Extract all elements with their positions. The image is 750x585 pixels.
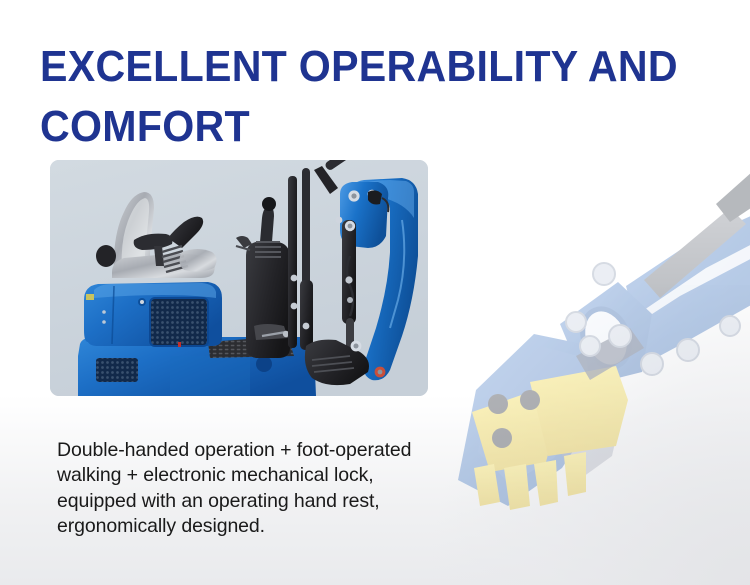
mini-excavator-operator-station-photo — [50, 160, 428, 396]
background-gradient-corner — [420, 285, 750, 585]
faded-excavator-arm-watermark — [430, 150, 750, 570]
feature-description: Double-handed operation + foot-operated … — [57, 438, 457, 540]
page-title: EXCELLENT OPERABILITY AND COMFORT — [40, 37, 695, 157]
promo-banner: EXCELLENT OPERABILITY AND COMFORT — [0, 0, 750, 585]
